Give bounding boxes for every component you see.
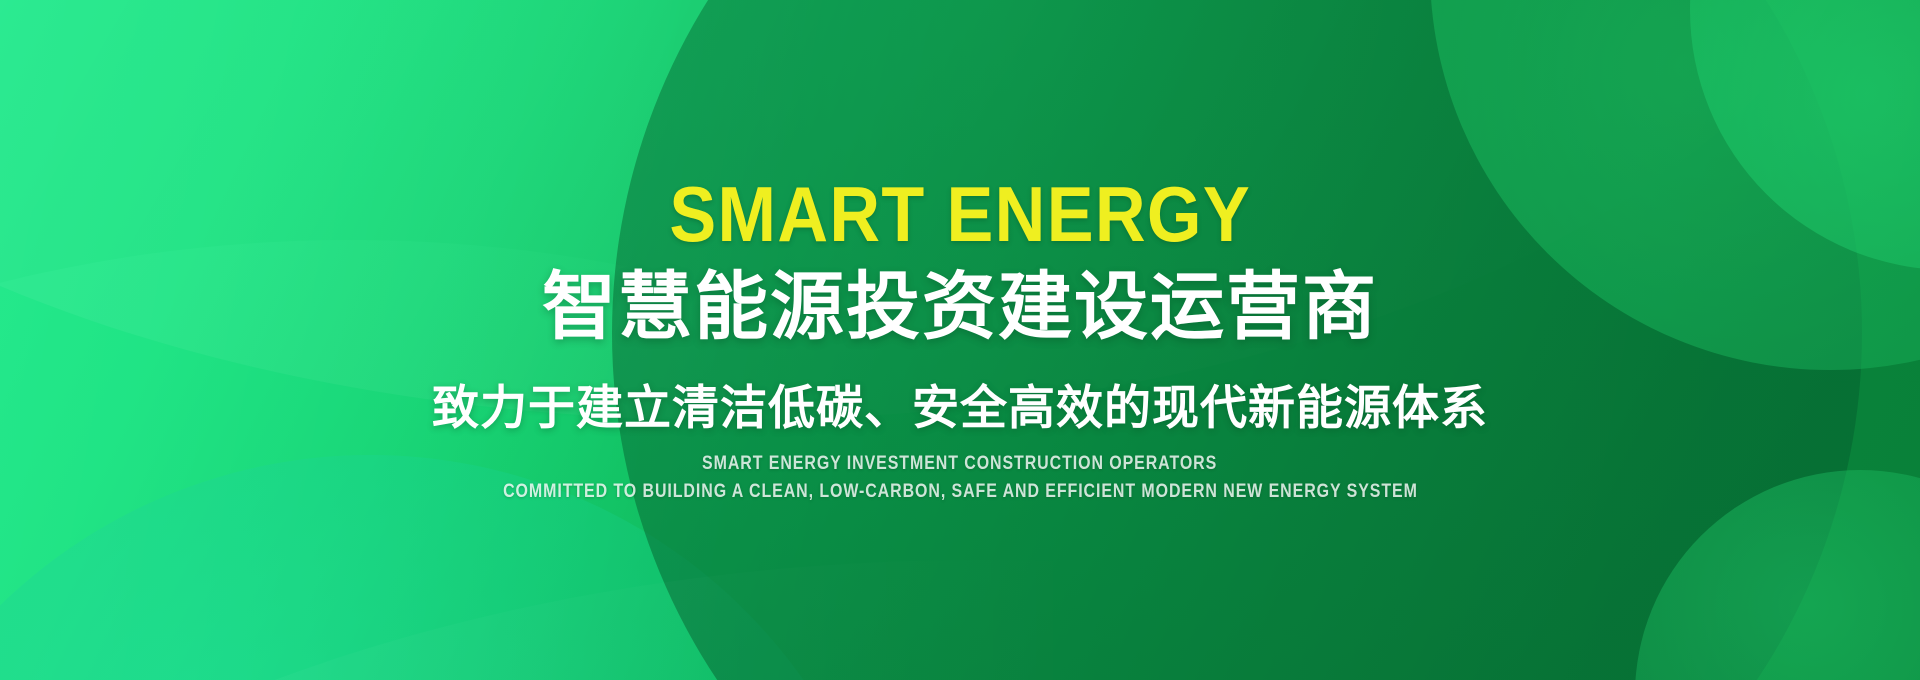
banner-subtitle-english-line1: SMART ENERGY INVESTMENT CONSTRUCTION OPE…	[702, 453, 1217, 476]
banner-content: SMART ENERGY 智慧能源投资建设运营商 致力于建立清洁低碳、安全高效的…	[0, 0, 1920, 680]
banner-headline-chinese: 智慧能源投资建设运营商	[542, 269, 1378, 346]
banner-subheadline-chinese: 致力于建立清洁低碳、安全高效的现代新能源体系	[432, 382, 1488, 434]
hero-banner: SMART ENERGY 智慧能源投资建设运营商 致力于建立清洁低碳、安全高效的…	[0, 0, 1920, 680]
banner-headline-english: SMART ENERGY	[669, 176, 1251, 252]
banner-subtitle-english-line2: COMMITTED TO BUILDING A CLEAN, LOW-CARBO…	[503, 481, 1418, 504]
banner-subtitle-english-group: SMART ENERGY INVESTMENT CONSTRUCTION OPE…	[416, 453, 1505, 504]
